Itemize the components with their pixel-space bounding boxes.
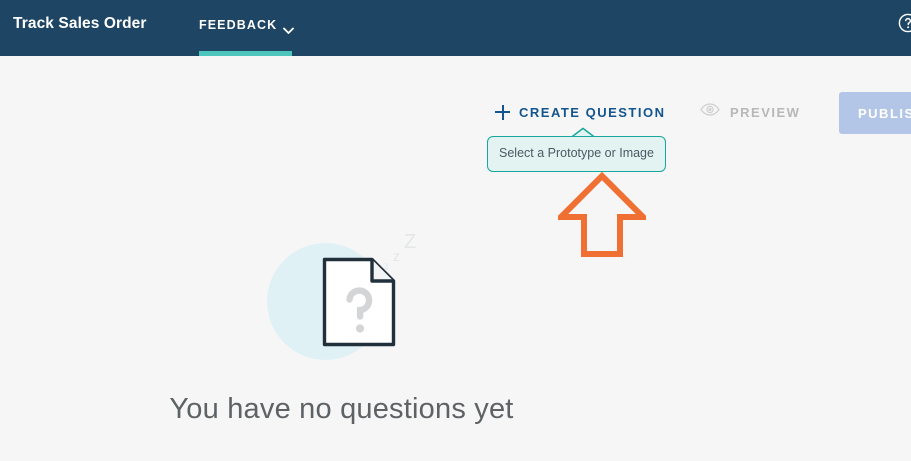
chevron-down-icon[interactable]	[283, 22, 294, 30]
empty-state-title: You have no questions yet	[0, 393, 683, 426]
sleep-mark-large: Z	[404, 232, 416, 252]
page-title: Track Sales Order	[13, 15, 147, 33]
prototype-selector-tooltip-label: Select a Prototype or Image	[488, 146, 665, 160]
sleep-mark-medium: z	[393, 249, 400, 263]
create-question-button[interactable]: CREATE QUESTION	[495, 96, 666, 128]
tab-feedback-active-indicator	[199, 51, 292, 56]
sleep-marks: Z z z	[384, 232, 424, 274]
tab-feedback-label: FEEDBACK	[199, 18, 277, 32]
preview-button[interactable]: PREVIEW	[700, 96, 800, 128]
sleep-mark-small: z	[384, 262, 389, 272]
app-header: Track Sales Order FEEDBACK	[0, 0, 911, 56]
prototype-selector-tooltip[interactable]: Select a Prototype or Image	[487, 136, 666, 172]
create-question-label: CREATE QUESTION	[519, 105, 666, 120]
preview-label: PREVIEW	[730, 105, 800, 120]
arrow-up-icon	[558, 172, 646, 258]
publish-button[interactable]: PUBLISH	[839, 92, 911, 134]
help-circle-icon[interactable]	[898, 13, 911, 33]
editor-toolbar: CREATE QUESTION PREVIEW PUBLISH	[0, 96, 911, 130]
plus-icon	[495, 105, 510, 120]
tab-feedback[interactable]: FEEDBACK	[199, 0, 293, 56]
feedback-page: Track Sales Order FEEDBACK CREATE QUESTI…	[0, 0, 911, 461]
eye-icon	[700, 103, 720, 121]
